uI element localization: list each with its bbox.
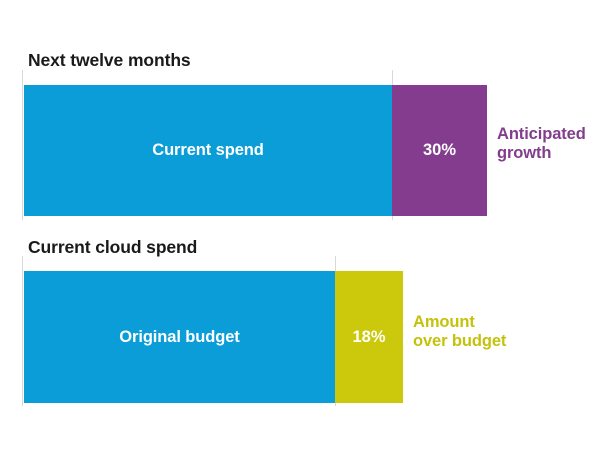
bar-segment-amount-over-budget-value: 18% <box>352 328 385 347</box>
stacked-bar-current-cloud-spend: Original budget 18% <box>24 271 403 403</box>
bar-segment-original-budget-label: Original budget <box>119 328 239 347</box>
bar-segment-original-budget[interactable]: Original budget <box>24 271 335 403</box>
chart-canvas: Next twelve months Current spend 30% Ant… <box>0 0 611 459</box>
gridline-axis-start-2 <box>22 256 23 406</box>
bar-segment-amount-over-budget[interactable]: 18% <box>335 271 403 403</box>
chart-current-cloud-spend: Current cloud spend Original budget 18% … <box>0 0 611 459</box>
chart-title-current-cloud-spend: Current cloud spend <box>28 237 197 258</box>
annotation-amount-over-budget: Amount over budget <box>413 313 506 352</box>
